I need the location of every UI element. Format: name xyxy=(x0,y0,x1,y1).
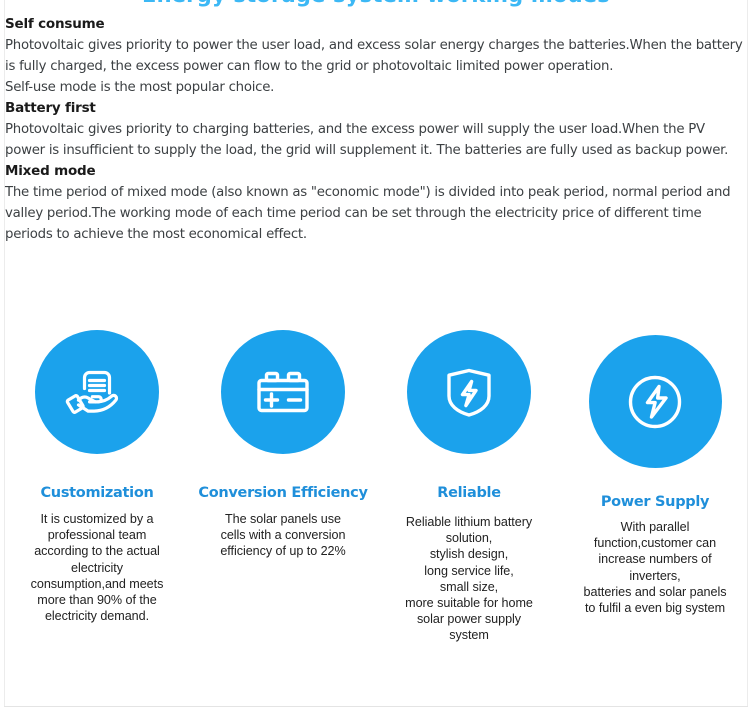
feature-conversion-efficiency: Conversion Efficiency The solar panels u… xyxy=(190,330,376,560)
section-paragraph: Photovoltaic gives priority to charging … xyxy=(4,119,743,161)
section-paragraph: Self-use mode is the most popular choice… xyxy=(4,77,743,98)
section-title: Self consume xyxy=(4,14,744,35)
feature-power-supply: Power Supply With parallel function,cust… xyxy=(562,335,748,616)
section-paragraph: Photovoltaic gives priority to power the… xyxy=(4,35,743,77)
feature-reliable: Reliable Reliable lithium battery soluti… xyxy=(376,330,562,644)
hand-holding-document-icon xyxy=(35,330,159,454)
feature-description: Reliable lithium battery solution, styli… xyxy=(377,514,561,644)
feature-customization: Customization It is customized by a prof… xyxy=(4,330,190,624)
feature-title: Power Supply xyxy=(601,494,709,511)
feature-title: Reliable xyxy=(437,485,501,502)
section-paragraph: The time period of mixed mode (also know… xyxy=(4,182,743,245)
feature-description: The solar panels use cells with a conver… xyxy=(193,511,373,560)
feature-title: Conversion Efficiency xyxy=(198,485,367,502)
section-title: Mixed mode xyxy=(4,161,744,182)
bolt-in-circle-icon xyxy=(589,335,722,468)
working-modes-text: Self consume Photovoltaic gives priority… xyxy=(4,14,744,245)
section-mixed-mode: Mixed mode The time period of mixed mode… xyxy=(4,161,744,245)
shield-bolt-icon xyxy=(407,330,531,454)
feature-title: Customization xyxy=(40,485,153,502)
top-banner-heading: Energy storage system working modes xyxy=(0,0,752,12)
section-self-consume: Self consume Photovoltaic gives priority… xyxy=(4,14,744,98)
top-banner-heading-text: Energy storage system working modes xyxy=(0,0,752,7)
feature-highlights: Customization It is customized by a prof… xyxy=(4,330,748,644)
car-battery-icon xyxy=(221,330,345,454)
section-battery-first: Battery first Photovoltaic gives priorit… xyxy=(4,98,744,161)
product-detail-page: Energy storage system working modes Self… xyxy=(0,0,752,707)
section-title: Battery first xyxy=(4,98,744,119)
feature-description: With parallel function,customer can incr… xyxy=(562,519,748,616)
feature-description: It is customized by a professional team … xyxy=(11,511,183,624)
